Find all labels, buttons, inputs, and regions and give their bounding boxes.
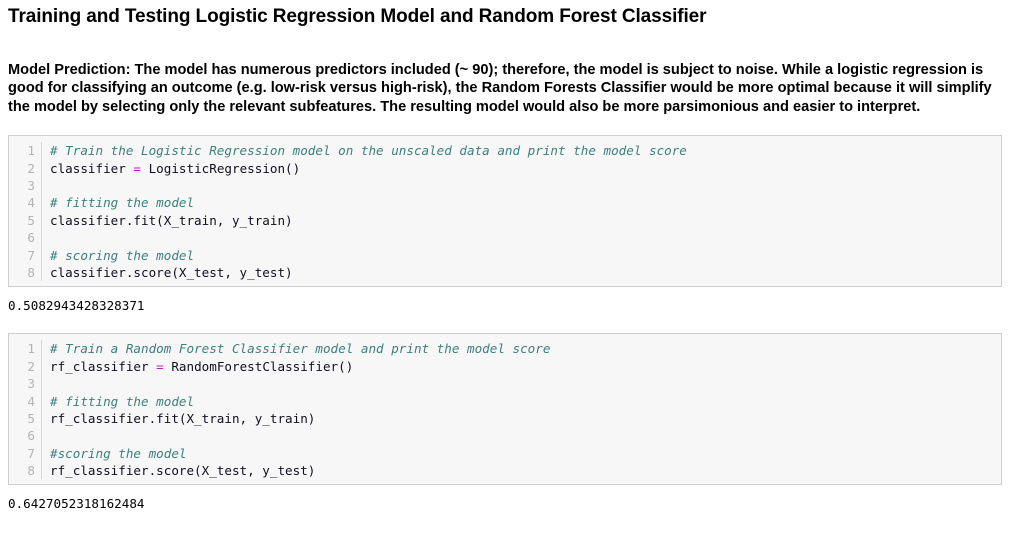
code-line: 5rf_classifier.fit(X_train, y_train)	[9, 410, 1001, 427]
code-token-operator: =	[133, 161, 141, 176]
cell-output: 0.5082943428328371	[8, 298, 1001, 314]
code-cell[interactable]: 1# Train a Random Forest Classifier mode…	[8, 333, 1002, 485]
line-number: 7	[9, 445, 42, 462]
code-token-text: RandomForestClassifier()	[164, 359, 354, 374]
code-token-comment: # Train a Random Forest Classifier model…	[50, 341, 550, 356]
code-token-operator: =	[156, 359, 164, 374]
line-number: 2	[9, 358, 42, 375]
line-number: 8	[9, 264, 42, 281]
code-line: 7# scoring the model	[9, 247, 1001, 264]
code-line: 1# Train a Random Forest Classifier mode…	[9, 340, 1001, 357]
code-token-text: rf_classifier.score(X_test, y_test)	[50, 463, 315, 478]
code-line: 7#scoring the model	[9, 445, 1001, 462]
code-line-content[interactable]: # Train the Logistic Regression model on…	[42, 142, 1001, 159]
code-line: 6	[9, 427, 1001, 444]
code-line-content[interactable]: rf_classifier.score(X_test, y_test)	[42, 462, 1001, 479]
code-line-content[interactable]: # fitting the model	[42, 194, 1001, 211]
model-prediction-paragraph: Model Prediction: The model has numerous…	[8, 29, 1001, 116]
code-line-content[interactable]	[42, 375, 1001, 392]
code-line: 4# fitting the model	[9, 194, 1001, 211]
code-token-text: rf_classifier.fit(X_train, y_train)	[50, 411, 315, 426]
code-token-comment: #scoring the model	[50, 446, 186, 461]
code-token-comment: # Train the Logistic Regression model on…	[50, 143, 687, 158]
cell-output: 0.6427052318162484	[8, 496, 1001, 512]
line-number: 5	[9, 212, 42, 229]
line-number: 7	[9, 247, 42, 264]
line-number: 3	[9, 375, 42, 392]
code-token-text: rf_classifier	[50, 359, 156, 374]
code-cell[interactable]: 1# Train the Logistic Regression model o…	[8, 135, 1002, 287]
line-number: 1	[9, 142, 42, 159]
code-line: 6	[9, 229, 1001, 246]
line-number: 1	[9, 340, 42, 357]
code-token-comment: # fitting the model	[50, 394, 194, 409]
code-line: 2rf_classifier = RandomForestClassifier(…	[9, 358, 1001, 375]
code-token-text: LogisticRegression()	[141, 161, 300, 176]
code-line: 5classifier.fit(X_train, y_train)	[9, 212, 1001, 229]
line-number: 5	[9, 410, 42, 427]
code-line: 2classifier = LogisticRegression()	[9, 160, 1001, 177]
line-number: 4	[9, 194, 42, 211]
code-line-content[interactable]: rf_classifier.fit(X_train, y_train)	[42, 410, 1001, 427]
notebook-page: Training and Testing Logistic Regression…	[0, 5, 1009, 535]
code-line-content[interactable]: # scoring the model	[42, 247, 1001, 264]
code-line-content[interactable]: # fitting the model	[42, 393, 1001, 410]
code-line: 1# Train the Logistic Regression model o…	[9, 142, 1001, 159]
code-line: 3	[9, 375, 1001, 392]
code-line-content[interactable]	[42, 229, 1001, 246]
code-cells-container: 1# Train the Logistic Regression model o…	[8, 135, 1001, 512]
code-token-comment: # fitting the model	[50, 195, 194, 210]
code-line-content[interactable]: classifier.score(X_test, y_test)	[42, 264, 1001, 281]
code-line: 4# fitting the model	[9, 393, 1001, 410]
code-line-content[interactable]	[42, 427, 1001, 444]
code-line: 8rf_classifier.score(X_test, y_test)	[9, 462, 1001, 479]
code-line-content[interactable]: classifier = LogisticRegression()	[42, 160, 1001, 177]
page-title: Training and Testing Logistic Regression…	[8, 5, 1001, 29]
code-token-comment: # scoring the model	[50, 248, 194, 263]
code-line-content[interactable]	[42, 177, 1001, 194]
code-line-content[interactable]: #scoring the model	[42, 445, 1001, 462]
code-line-content[interactable]: # Train a Random Forest Classifier model…	[42, 340, 1001, 357]
line-number: 2	[9, 160, 42, 177]
line-number: 4	[9, 393, 42, 410]
code-token-text: classifier.score(X_test, y_test)	[50, 265, 293, 280]
line-number: 3	[9, 177, 42, 194]
code-line-content[interactable]: rf_classifier = RandomForestClassifier()	[42, 358, 1001, 375]
line-number: 8	[9, 462, 42, 479]
line-number: 6	[9, 427, 42, 444]
code-line: 8classifier.score(X_test, y_test)	[9, 264, 1001, 281]
code-line-content[interactable]: classifier.fit(X_train, y_train)	[42, 212, 1001, 229]
code-token-text: classifier.fit(X_train, y_train)	[50, 213, 293, 228]
code-token-text: classifier	[50, 161, 133, 176]
code-line: 3	[9, 177, 1001, 194]
line-number: 6	[9, 229, 42, 246]
